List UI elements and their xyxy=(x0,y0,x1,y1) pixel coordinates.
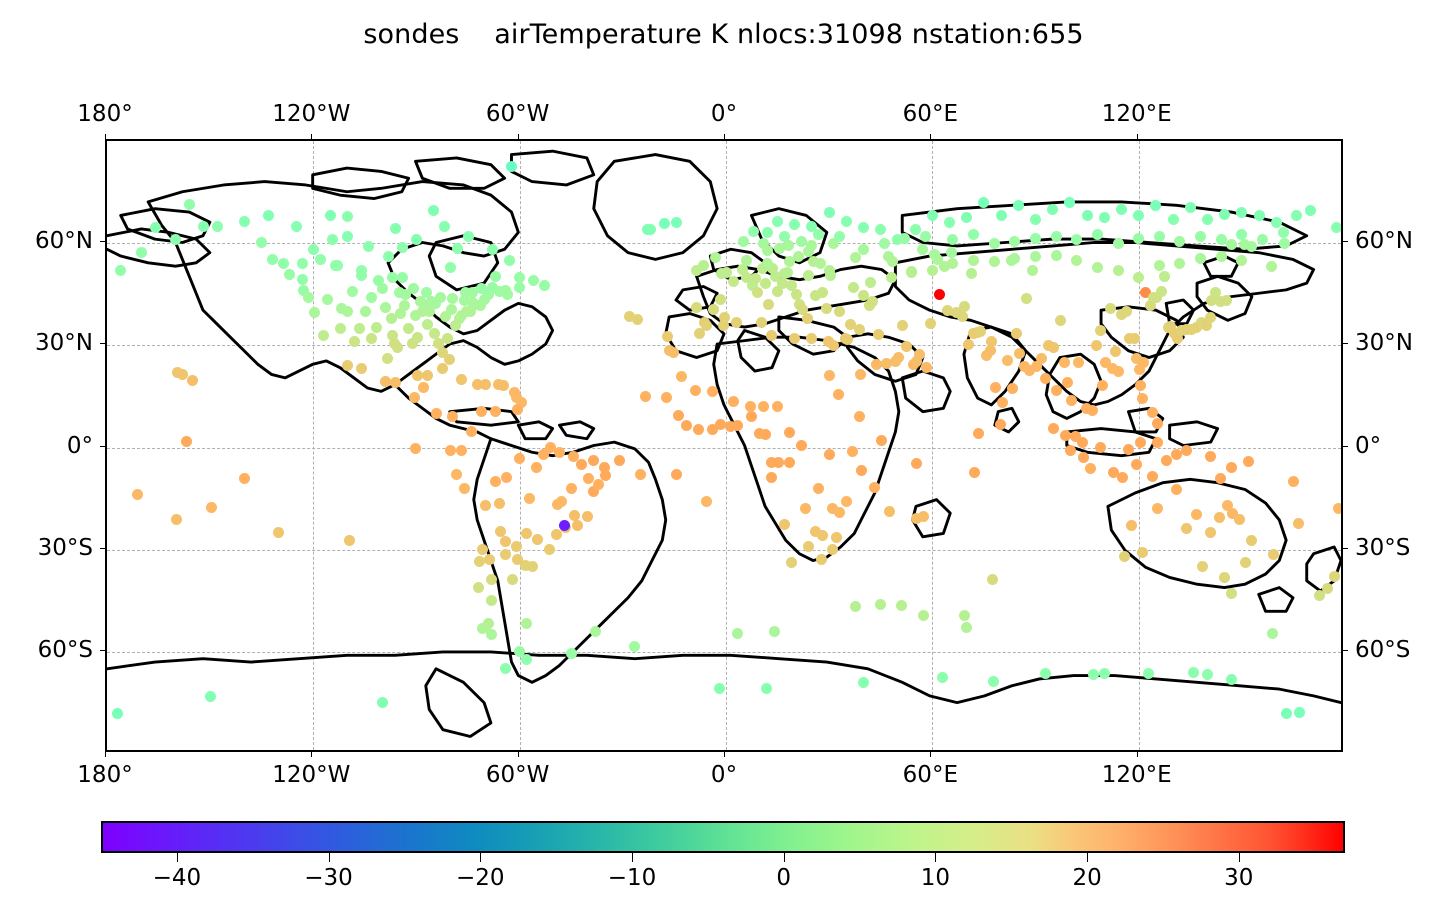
scatter-point xyxy=(387,272,398,283)
colorbar-tick xyxy=(480,853,481,862)
scatter-point xyxy=(390,223,401,234)
scatter-point xyxy=(1007,383,1018,394)
scatter-point xyxy=(1133,210,1144,221)
scatter-point xyxy=(1154,260,1165,271)
scatter-point xyxy=(524,493,535,504)
scatter-point xyxy=(1116,204,1127,215)
scatter-point xyxy=(769,626,780,637)
scatter-point xyxy=(360,306,371,317)
scatter-point xyxy=(714,683,725,694)
scatter-point xyxy=(556,496,567,507)
scatter-point xyxy=(1195,253,1206,264)
scatter-point xyxy=(1082,210,1093,221)
scatter-point xyxy=(920,231,931,242)
scatter-point xyxy=(779,231,790,242)
scatter-point xyxy=(784,427,795,438)
scatter-point xyxy=(256,237,267,248)
scatter-point xyxy=(1294,707,1305,718)
scatter-point xyxy=(746,411,757,422)
scatter-point xyxy=(1051,231,1062,242)
scatter-point xyxy=(986,336,997,347)
scatter-point xyxy=(694,328,705,339)
scatter-point xyxy=(322,294,333,305)
scatter-point xyxy=(823,336,834,347)
scatter-point xyxy=(1305,205,1316,216)
scatter-point xyxy=(392,342,403,353)
scatter-point xyxy=(1009,253,1020,264)
scatter-point xyxy=(917,244,928,255)
scatter-point xyxy=(447,411,458,422)
scatter-point xyxy=(975,326,986,337)
scatter-point xyxy=(399,300,410,311)
scatter-point xyxy=(824,207,835,218)
scatter-point xyxy=(435,292,446,303)
scatter-point xyxy=(968,229,979,240)
scatter-point xyxy=(198,221,209,232)
scatter-point xyxy=(408,283,419,294)
scatter-point xyxy=(501,472,512,483)
scatter-point xyxy=(716,268,727,279)
scatter-point xyxy=(1097,380,1108,391)
scatter-point xyxy=(349,336,360,347)
scatter-point xyxy=(297,258,308,269)
scatter-point xyxy=(707,386,718,397)
scatter-point xyxy=(1078,452,1089,463)
scatter-point xyxy=(629,641,640,652)
scatter-point xyxy=(847,446,858,457)
colorbar-tick-label: −10 xyxy=(608,865,657,891)
longitude-tick-top xyxy=(311,134,312,139)
scatter-point xyxy=(397,272,408,283)
scatter-point xyxy=(762,245,773,256)
scatter-point xyxy=(1205,312,1216,323)
scatter-point xyxy=(1279,238,1290,249)
scatter-point xyxy=(710,252,721,263)
colorbar-tick xyxy=(1087,853,1088,862)
scatter-point xyxy=(645,224,656,235)
scatter-point xyxy=(1021,293,1032,304)
scatter-point xyxy=(1202,214,1213,225)
scatter-point xyxy=(1226,674,1237,685)
scatter-point xyxy=(842,334,853,345)
scatter-point xyxy=(800,503,811,514)
scatter-point xyxy=(593,479,604,490)
scatter-point xyxy=(1278,227,1289,238)
colorbar-gradient xyxy=(103,823,1343,851)
scatter-point xyxy=(514,282,525,293)
scatter-point xyxy=(1064,197,1075,208)
scatter-point xyxy=(963,339,974,350)
longitude-label-bot: 180° xyxy=(77,762,132,788)
scatter-point xyxy=(466,426,477,437)
scatter-point xyxy=(394,287,405,298)
scatter-point xyxy=(1174,236,1185,247)
scatter-point xyxy=(318,330,329,341)
scatter-point xyxy=(506,161,517,172)
scatter-point xyxy=(383,251,394,262)
colorbar-tick xyxy=(329,853,330,862)
colorbar-tick-label: 30 xyxy=(1224,865,1253,891)
scatter-point xyxy=(572,520,583,531)
scatter-point xyxy=(1133,233,1144,244)
scatter-point xyxy=(995,419,1006,430)
scatter-point xyxy=(802,313,813,324)
scatter-point xyxy=(600,470,611,481)
scatter-point xyxy=(855,369,866,380)
scatter-point xyxy=(1205,527,1216,538)
scatter-point xyxy=(514,453,525,464)
scatter-point xyxy=(566,648,577,659)
scatter-point xyxy=(708,304,719,315)
scatter-point xyxy=(841,216,852,227)
latitude-tick-left xyxy=(100,650,105,651)
scatter-point xyxy=(879,238,890,249)
scatter-point xyxy=(1009,236,1020,247)
map-axes xyxy=(105,139,1343,752)
scatter-point xyxy=(996,210,1007,221)
scatter-point xyxy=(796,440,807,451)
scatter-point xyxy=(834,231,845,242)
scatter-point xyxy=(906,267,917,278)
scatter-point xyxy=(1065,445,1076,456)
scatter-point xyxy=(297,274,308,285)
scatter-point xyxy=(614,455,625,466)
scatter-point xyxy=(327,234,338,245)
scatter-point xyxy=(411,234,422,245)
scatter-point xyxy=(380,302,391,313)
scatter-point xyxy=(918,610,929,621)
scatter-point xyxy=(480,500,491,511)
scatter-point xyxy=(858,244,869,255)
scatter-point xyxy=(410,443,421,454)
scatter-point xyxy=(486,629,497,640)
scatter-point xyxy=(1191,509,1202,520)
scatter-point xyxy=(1291,210,1302,221)
scatter-point xyxy=(1143,668,1154,679)
scatter-point xyxy=(989,238,1000,249)
scatter-point xyxy=(927,210,938,221)
scatter-point xyxy=(437,363,448,374)
scatter-point xyxy=(789,333,800,344)
scatter-point xyxy=(793,251,804,262)
scatter-point xyxy=(1147,407,1158,418)
scatter-point xyxy=(511,541,522,552)
scatter-point xyxy=(490,476,501,487)
scatter-point xyxy=(673,410,684,421)
scatter-point xyxy=(1181,445,1192,456)
scatter-point xyxy=(309,307,320,318)
scatter-point xyxy=(968,255,979,266)
scatter-point xyxy=(858,222,869,233)
scatter-point xyxy=(1040,373,1051,384)
scatter-point xyxy=(303,292,314,303)
scatter-point xyxy=(1246,535,1257,546)
scatter-point xyxy=(528,275,539,286)
scatter-point xyxy=(1062,377,1073,388)
latitude-label-right: 30°S xyxy=(1355,535,1410,561)
scatter-point xyxy=(896,600,907,611)
scatter-point xyxy=(442,333,453,344)
scatter-point xyxy=(624,311,635,322)
scatter-point xyxy=(918,511,929,522)
scatter-point xyxy=(397,242,408,253)
scatter-point xyxy=(910,224,921,235)
scatter-point xyxy=(760,429,771,440)
scatter-point xyxy=(661,392,672,403)
scatter-point xyxy=(382,353,393,364)
scatter-point xyxy=(1036,353,1047,364)
longitude-tick-bot xyxy=(1137,752,1138,757)
scatter-point xyxy=(507,574,518,585)
scatter-point xyxy=(959,610,970,621)
scatter-point xyxy=(136,247,147,258)
scatter-point xyxy=(150,222,161,233)
scatter-point xyxy=(554,447,565,458)
scatter-point xyxy=(1066,395,1077,406)
scatter-point xyxy=(934,289,945,300)
scatter-point xyxy=(946,247,957,258)
scatter-point xyxy=(431,408,442,419)
scatter-point xyxy=(347,286,358,297)
scatter-point xyxy=(1113,238,1124,249)
longitude-tick-bot xyxy=(311,752,312,757)
scatter-point xyxy=(494,498,505,509)
scatter-point xyxy=(1113,366,1124,377)
latitude-label-left: 0° xyxy=(67,433,93,459)
scatter-point xyxy=(366,292,377,303)
scatter-point xyxy=(205,691,216,702)
scatter-point xyxy=(181,436,192,447)
scatter-point xyxy=(480,379,491,390)
scatter-point xyxy=(1014,348,1025,359)
scatter-point xyxy=(467,287,478,298)
scatter-point xyxy=(635,469,646,480)
scatter-point xyxy=(876,435,887,446)
scatter-point xyxy=(1240,557,1251,568)
map-plot-area xyxy=(107,141,1341,750)
colorbar-tick-label: −20 xyxy=(456,865,505,891)
scatter-point xyxy=(1281,708,1292,719)
scatter-point xyxy=(1135,380,1146,391)
scatter-point xyxy=(1215,473,1226,484)
scatter-point xyxy=(476,406,487,417)
scatter-point xyxy=(1047,204,1058,215)
scatter-point xyxy=(867,296,878,307)
scatter-point xyxy=(668,347,679,358)
longitude-tick-top xyxy=(1137,134,1138,139)
scatter-point xyxy=(452,243,463,254)
latitude-label-left: 30°N xyxy=(35,330,93,356)
scatter-point xyxy=(856,465,867,476)
scatter-point xyxy=(1135,437,1146,448)
scatter-point xyxy=(409,392,420,403)
scatter-point xyxy=(944,217,955,228)
scatter-point xyxy=(715,294,726,305)
latitude-tick-right xyxy=(1343,446,1348,447)
scatter-point xyxy=(854,324,865,335)
scatter-point xyxy=(366,333,377,344)
scatter-point xyxy=(676,371,687,382)
scatter-point xyxy=(1095,442,1106,453)
scatter-point xyxy=(539,280,550,291)
longitude-label-top: 60°E xyxy=(903,101,958,127)
scatter-point xyxy=(1059,357,1070,368)
longitude-label-top: 180° xyxy=(77,101,132,127)
scatter-point xyxy=(1159,271,1170,282)
scatter-point xyxy=(184,199,195,210)
scatter-point xyxy=(1185,202,1196,213)
scatter-point xyxy=(748,226,759,237)
scatter-point xyxy=(973,428,984,439)
scatter-point xyxy=(803,541,814,552)
scatter-point xyxy=(1048,423,1059,434)
scatter-point xyxy=(1221,295,1232,306)
scatter-point xyxy=(1030,233,1041,244)
scatter-point xyxy=(371,322,382,333)
scatter-point xyxy=(1099,668,1110,679)
scatter-point xyxy=(551,529,562,540)
longitude-tick-top xyxy=(105,134,106,139)
scatter-point xyxy=(1126,520,1137,531)
scatter-point xyxy=(1121,306,1132,317)
scatter-point xyxy=(1073,357,1084,368)
scatter-point xyxy=(854,411,865,422)
longitude-label-bot: 60°W xyxy=(486,762,550,788)
scatter-point xyxy=(1002,355,1013,366)
longitude-tick-bot xyxy=(518,752,519,757)
scatter-point xyxy=(824,370,835,381)
scatter-point xyxy=(817,287,828,298)
scatter-point xyxy=(762,258,773,269)
scatter-point xyxy=(772,216,783,227)
scatter-point xyxy=(1099,212,1110,223)
scatter-point xyxy=(569,510,580,521)
scatter-point xyxy=(1293,518,1304,529)
scatter-point xyxy=(969,467,980,478)
colorbar[interactable] xyxy=(101,821,1345,853)
scatter-point xyxy=(291,221,302,232)
scatter-point xyxy=(1051,250,1062,261)
scatter-point xyxy=(521,528,532,539)
scatter-point xyxy=(412,332,423,343)
scatter-point xyxy=(701,496,712,507)
scatter-point xyxy=(659,218,670,229)
scatter-point xyxy=(473,582,484,593)
scatter-point xyxy=(1105,303,1116,314)
scatter-point xyxy=(803,270,814,281)
scatter-point xyxy=(1314,590,1325,601)
scatter-point xyxy=(342,211,353,222)
scatter-point xyxy=(761,683,772,694)
scatter-point xyxy=(1214,512,1225,523)
scatter-point xyxy=(1048,342,1059,353)
scatter-point xyxy=(500,285,511,296)
latitude-tick-right xyxy=(1343,548,1348,549)
scatter-point xyxy=(813,483,824,494)
scatter-point xyxy=(1040,668,1051,679)
scatter-point xyxy=(841,496,852,507)
scatter-point xyxy=(447,293,458,304)
scatter-point xyxy=(671,469,682,480)
colorbar-tick-label: 20 xyxy=(1072,865,1101,891)
scatter-point xyxy=(1152,503,1163,514)
scatter-point xyxy=(206,502,217,513)
scatter-point xyxy=(342,306,353,317)
scatter-point xyxy=(1131,459,1142,470)
scatter-point xyxy=(752,287,763,298)
latitude-label-left: 30°S xyxy=(38,535,93,561)
scatter-point xyxy=(521,618,532,629)
scatter-point xyxy=(451,469,462,480)
scatter-point xyxy=(640,391,651,402)
scatter-point xyxy=(779,519,790,530)
scatter-point xyxy=(330,260,341,271)
latitude-label-left: 60°N xyxy=(35,228,93,254)
scatter-point xyxy=(824,265,835,276)
colorbar-tick-label: 0 xyxy=(776,865,791,891)
scatter-point xyxy=(1234,514,1245,525)
scatter-point xyxy=(1088,669,1099,680)
scatter-point xyxy=(1011,328,1022,339)
scatter-point xyxy=(582,511,593,522)
scatter-point xyxy=(1154,231,1165,242)
scatter-point xyxy=(1110,346,1121,357)
scatter-point xyxy=(987,574,998,585)
scatter-point xyxy=(784,457,795,468)
scatter-point xyxy=(947,234,958,245)
scatter-point xyxy=(486,595,497,606)
plot-title: sondes airTemperature K nlocs:31098 nsta… xyxy=(0,19,1447,50)
scatter-point xyxy=(170,234,181,245)
scatter-point xyxy=(1085,463,1096,474)
scatter-point xyxy=(897,320,908,331)
scatter-point xyxy=(1030,214,1041,225)
scatter-point xyxy=(273,527,284,538)
scatter-point xyxy=(335,323,346,334)
scatter-point xyxy=(418,382,429,393)
scatter-point xyxy=(1171,484,1182,495)
scatter-point xyxy=(1226,588,1237,599)
scatter-point xyxy=(1119,551,1130,562)
scatter-point xyxy=(760,278,771,289)
scatter-point xyxy=(732,420,743,431)
scatter-point xyxy=(325,210,336,221)
scatter-point xyxy=(486,574,497,585)
colorbar-tick xyxy=(935,853,936,862)
scatter-point xyxy=(817,530,828,541)
scatter-point xyxy=(1156,286,1167,297)
scatter-point xyxy=(833,389,844,400)
latitude-label-right: 60°N xyxy=(1355,228,1413,254)
scatter-point xyxy=(1071,255,1082,266)
scatter-point xyxy=(377,697,388,708)
scatter-point xyxy=(315,254,326,265)
longitude-label-top: 120°E xyxy=(1102,101,1172,127)
scatter-point xyxy=(1087,405,1098,416)
longitude-tick-top xyxy=(518,134,519,139)
colorbar-tick xyxy=(784,853,785,862)
scatter-point xyxy=(363,241,374,252)
scatter-point xyxy=(1013,200,1024,211)
scatter-point xyxy=(1268,549,1279,560)
scatter-point xyxy=(566,483,577,494)
scatter-point xyxy=(827,544,838,555)
scatter-point xyxy=(1137,547,1148,558)
scatter-point xyxy=(1174,258,1185,269)
scatter-point xyxy=(344,535,355,546)
scatter-point xyxy=(590,626,601,637)
scatter-point xyxy=(763,299,774,310)
